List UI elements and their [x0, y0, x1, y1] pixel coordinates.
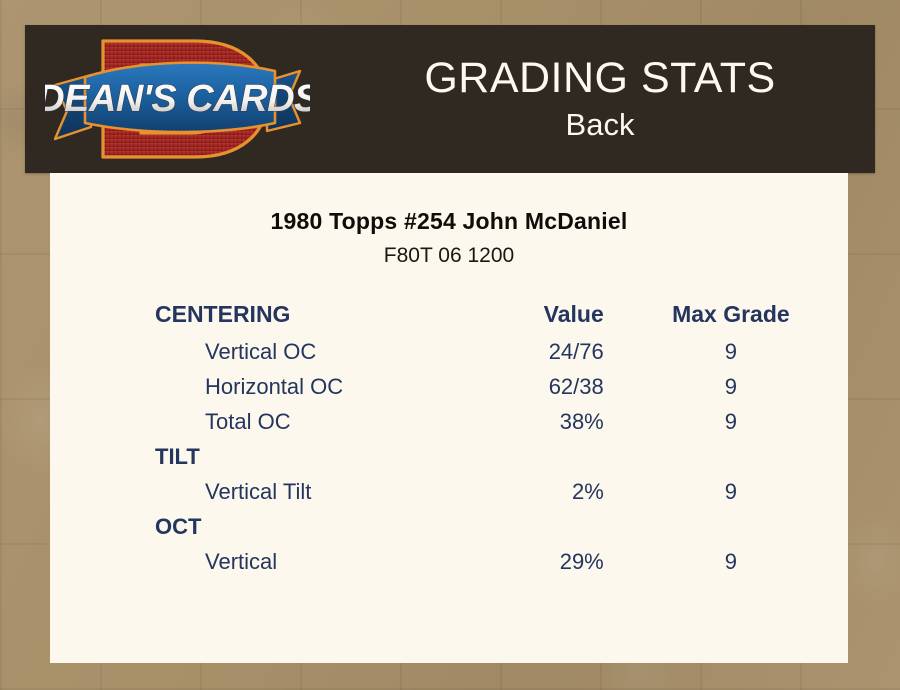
column-header-max-grade: Max Grade — [654, 301, 848, 339]
stat-value: 29% — [460, 549, 654, 584]
column-header-value: Value — [460, 301, 654, 339]
card-title: 1980 Topps #254 John McDaniel — [50, 208, 848, 235]
table-row: Vertical Tilt2%9 — [50, 479, 848, 514]
card-identifier: F80T 06 1200 — [50, 244, 848, 268]
header-bar: DEAN'S CARDS GRADING STATS Back — [25, 25, 875, 173]
stat-value: 62/38 — [460, 374, 654, 409]
table-row: Horizontal OC62/389 — [50, 374, 848, 409]
stat-label: Vertical Tilt — [50, 479, 460, 514]
table-row: Total OC38%9 — [50, 409, 848, 444]
stat-value: 2% — [460, 479, 654, 514]
section-header-row: TILT — [50, 444, 848, 479]
stat-max-grade: 9 — [654, 479, 848, 514]
content-panel: 1980 Topps #254 John McDaniel F80T 06 12… — [50, 173, 848, 663]
svg-text:DEAN'S CARDS: DEAN'S CARDS — [45, 78, 310, 120]
stat-max-grade: 9 — [654, 549, 848, 584]
stat-label: Horizontal OC — [50, 374, 460, 409]
grading-stats-table: CENTERING Value Max Grade Vertical OC24/… — [50, 301, 848, 584]
page-subtitle: Back — [566, 105, 635, 145]
stat-max-grade: 9 — [654, 339, 848, 374]
deans-cards-logo[interactable]: DEAN'S CARDS — [45, 31, 310, 167]
section-header-oct: OCT — [50, 514, 848, 549]
stat-max-grade: 9 — [654, 409, 848, 444]
stat-label: Vertical — [50, 549, 460, 584]
stats-table-body: Vertical OC24/769Horizontal OC62/389Tota… — [50, 339, 848, 584]
section-header-tilt: TILT — [50, 444, 848, 479]
stat-max-grade: 9 — [654, 374, 848, 409]
table-header-row: CENTERING Value Max Grade — [50, 301, 848, 339]
column-header-centering: CENTERING — [50, 301, 460, 339]
stat-label: Vertical OC — [50, 339, 460, 374]
table-row: Vertical29%9 — [50, 549, 848, 584]
table-row: Vertical OC24/769 — [50, 339, 848, 374]
stat-value: 38% — [460, 409, 654, 444]
section-header-row: OCT — [50, 514, 848, 549]
stats-table-head: CENTERING Value Max Grade — [50, 301, 848, 339]
stat-value: 24/76 — [460, 339, 654, 374]
stat-label: Total OC — [50, 409, 460, 444]
header-title-group: GRADING STATS Back — [325, 25, 875, 173]
page-title: GRADING STATS — [424, 53, 775, 103]
